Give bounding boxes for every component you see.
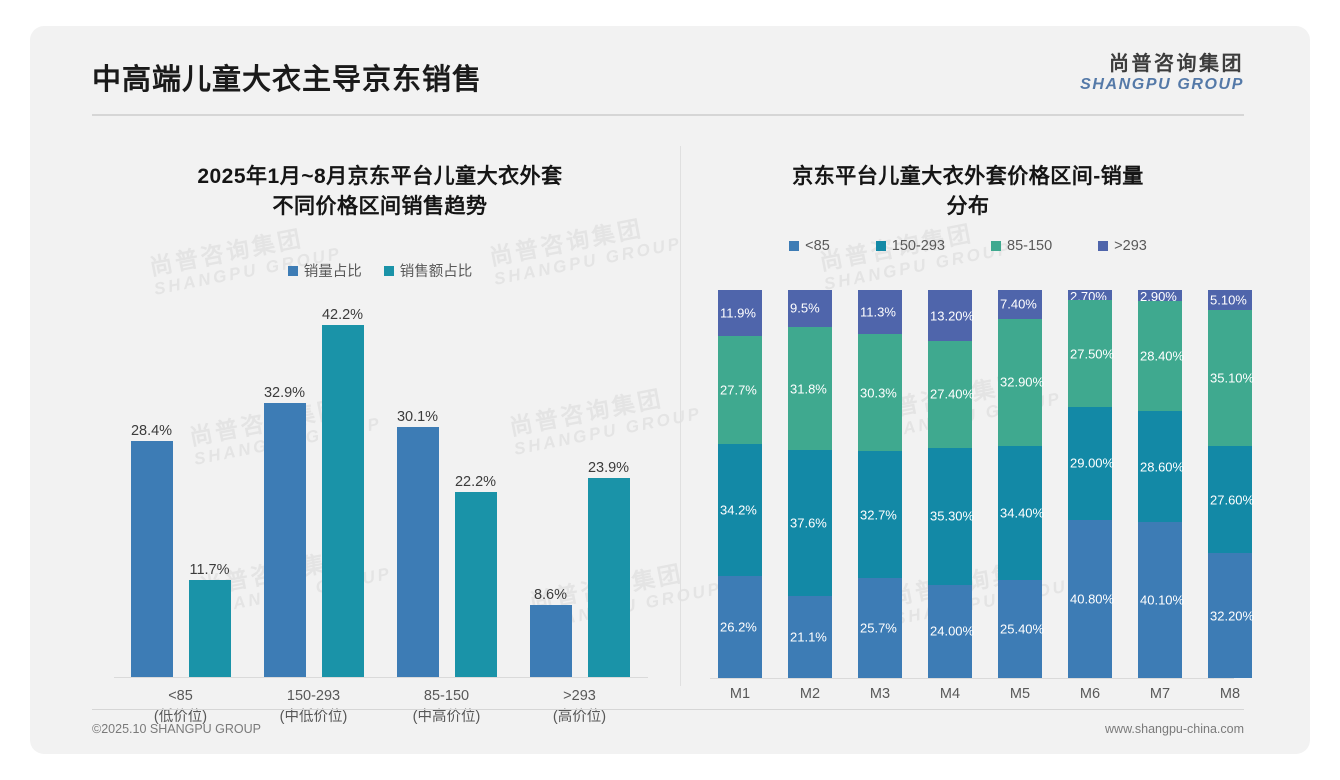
legend-label: 销售额占比 <box>400 260 473 281</box>
stack-segment-85-150[interactable]: 27.40% <box>928 341 972 447</box>
stacked-bar-column[interactable]: 7.40% 32.90% 34.40% 25.40% <box>998 290 1042 678</box>
legend-label: 85-150 <box>1007 238 1052 254</box>
slide-header: 中高端儿童大衣主导京东销售 尚普咨询集团 SHANGPU GROUP <box>30 26 1310 118</box>
bar-sales-share[interactable] <box>455 492 497 677</box>
stack-segment-85-150[interactable]: 32.90% <box>998 319 1042 447</box>
legend-item-lt85[interactable]: <85 <box>789 238 830 254</box>
bar-group: 32.9% 42.2% <box>247 302 380 677</box>
x-tick-label-m6: M6 <box>1068 686 1112 702</box>
right-chart-title: 京东平台儿童大衣外套价格区间-销量 分布 <box>692 162 1244 222</box>
legend-swatch-icon <box>384 266 394 276</box>
stack-segment-label: 32.90% <box>1000 375 1044 390</box>
stack-segment-gt293[interactable]: 11.9% <box>718 290 762 336</box>
bar-volume-share[interactable] <box>131 441 173 677</box>
legend-item-150-293[interactable]: 150-293 <box>876 238 945 254</box>
stack-segment-label: 34.40% <box>1000 505 1044 520</box>
stack-segment-label: 11.9% <box>720 306 756 321</box>
stacked-bar-column[interactable]: 2.90% 28.40% 28.60% 40.10% <box>1138 290 1182 678</box>
stack-segment-150-293[interactable]: 34.40% <box>998 446 1042 579</box>
bar-column[interactable]: 11.7% <box>189 302 231 677</box>
stack-segment-label: 26.2% <box>720 620 757 635</box>
stack-segment-150-293[interactable]: 32.7% <box>858 451 902 578</box>
stack-segment-gt293[interactable]: 2.70% <box>1068 290 1112 300</box>
legend-swatch-icon <box>1098 241 1108 251</box>
stack-segment-label: 29.00% <box>1070 456 1114 471</box>
x-tick-label-m5: M5 <box>998 686 1042 702</box>
slide-canvas: 尚普咨询集团 SHANGPU GROUP 尚普咨询集团 SHANGPU GROU… <box>30 26 1310 754</box>
legend-item-gt293[interactable]: >293 <box>1098 238 1147 254</box>
stack-segment-label: 21.1% <box>790 630 827 645</box>
x-tick-label: 85-150 (中高价位) <box>380 686 513 728</box>
left-chart-title-line2: 不同价格区间销售趋势 <box>92 192 668 222</box>
right-chart-title-line1: 京东平台儿童大衣外套价格区间-销量 <box>692 162 1244 192</box>
logo-english-text: SHANGPU GROUP <box>1080 77 1244 94</box>
bar-sales-share[interactable] <box>588 478 630 677</box>
stack-segment-label: 25.40% <box>1000 621 1044 636</box>
bar-value-label: 22.2% <box>455 474 496 490</box>
x-tick-primary: 85-150 <box>380 686 513 707</box>
stack-segment-150-293[interactable]: 29.00% <box>1068 407 1112 520</box>
stack-segment-85-150[interactable]: 30.3% <box>858 334 902 452</box>
stack-segment-85-150[interactable]: 27.50% <box>1068 300 1112 407</box>
footer-divider <box>92 709 1244 710</box>
stack-segment-lt85[interactable]: 32.20% <box>1208 553 1252 678</box>
stack-segment-label: 27.60% <box>1210 492 1254 507</box>
bar-group: 28.4% 11.7% <box>114 302 247 677</box>
right-chart-x-axis <box>710 678 1234 679</box>
bar-value-label: 8.6% <box>534 587 567 603</box>
stack-segment-label: 11.3% <box>860 304 896 319</box>
stack-segment-label: 27.50% <box>1070 346 1114 361</box>
left-chart-legend: 销量占比 销售额占比 <box>92 260 668 281</box>
logo-chinese-text: 尚普咨询集团 <box>1080 54 1244 75</box>
bar-column[interactable]: 22.2% <box>455 302 497 677</box>
x-tick-label: >293 (高价位) <box>513 686 646 728</box>
x-tick-label-m4: M4 <box>928 686 972 702</box>
x-tick-primary: 150-293 <box>247 686 380 707</box>
x-tick-label-m8: M8 <box>1208 686 1252 702</box>
stack-segment-85-150[interactable]: 28.40% <box>1138 301 1182 411</box>
bar-value-label: 11.7% <box>189 562 229 578</box>
stack-segment-label: 9.5% <box>790 301 820 316</box>
legend-item-85-150[interactable]: 85-150 <box>991 238 1052 254</box>
bar-column[interactable]: 28.4% <box>131 302 173 677</box>
stack-segment-gt293[interactable]: 5.10% <box>1208 290 1252 310</box>
stack-segment-label: 35.10% <box>1210 370 1254 385</box>
stack-segment-label: 32.20% <box>1210 608 1254 623</box>
right-chart-plot-area: 11.9% 27.7% 34.2% 26.2% 9.5% 31.8% 37.6%… <box>718 290 1228 678</box>
stack-segment-lt85[interactable]: 40.80% <box>1068 520 1112 678</box>
stack-segment-150-293[interactable]: 37.6% <box>788 450 832 596</box>
stack-segment-150-293[interactable]: 35.30% <box>928 448 972 585</box>
stack-segment-label: 32.7% <box>860 507 897 522</box>
x-tick-secondary: (高价位) <box>513 707 646 728</box>
legend-label: 150-293 <box>892 238 945 254</box>
stack-segment-lt85[interactable]: 21.1% <box>788 596 832 678</box>
stacked-bar-column[interactable]: 11.9% 27.7% 34.2% 26.2% <box>718 290 762 678</box>
stack-segment-150-293[interactable]: 28.60% <box>1138 411 1182 522</box>
stack-segment-label: 35.30% <box>930 509 974 524</box>
legend-item-volume-share[interactable]: 销量占比 <box>288 260 362 281</box>
page-title: 中高端儿童大衣主导京东销售 <box>92 56 482 98</box>
bar-column[interactable]: 32.9% <box>264 302 306 677</box>
bar-group: 30.1% 22.2% <box>380 302 513 677</box>
bar-value-label: 42.2% <box>322 307 363 323</box>
legend-label: >293 <box>1114 238 1147 254</box>
legend-swatch-icon <box>789 241 799 251</box>
stacked-bar-column[interactable]: 9.5% 31.8% 37.6% 21.1% <box>788 290 832 678</box>
right-chart-title-line2: 分布 <box>692 192 1244 222</box>
x-tick-label: 150-293 (中低价位) <box>247 686 380 728</box>
stacked-bar-column[interactable]: 2.70% 27.50% 29.00% 40.80% <box>1068 290 1112 678</box>
x-tick-secondary: (中高价位) <box>380 707 513 728</box>
legend-swatch-icon <box>876 241 886 251</box>
bar-value-label: 28.4% <box>131 423 172 439</box>
legend-item-sales-share[interactable]: 销售额占比 <box>384 260 473 281</box>
legend-swatch-icon <box>991 241 1001 251</box>
left-chart-plot-area: 28.4% 11.7% 32.9% 42.2% <box>114 302 648 677</box>
stack-segment-gt293[interactable]: 2.90% <box>1138 290 1182 301</box>
stack-segment-gt293[interactable]: 13.20% <box>928 290 972 341</box>
stack-segment-label: 27.40% <box>930 387 974 402</box>
stack-segment-gt293[interactable]: 7.40% <box>998 290 1042 319</box>
left-chart-x-axis <box>114 677 648 678</box>
left-chart-title-line1: 2025年1月~8月京东平台儿童大衣外套 <box>92 162 668 192</box>
stack-segment-150-293[interactable]: 27.60% <box>1208 446 1252 553</box>
bar-volume-share[interactable] <box>397 427 439 677</box>
bar-group: 8.6% 23.9% <box>513 302 646 677</box>
stack-segment-label: 5.10% <box>1210 292 1247 307</box>
stack-segment-lt85[interactable]: 25.7% <box>858 578 902 678</box>
bar-value-label: 23.9% <box>588 460 629 476</box>
bar-column[interactable]: 8.6% <box>530 302 572 677</box>
bar-volume-share[interactable] <box>264 403 306 677</box>
stack-segment-lt85[interactable]: 25.40% <box>998 580 1042 678</box>
x-tick-label-m1: M1 <box>718 686 762 702</box>
stacked-bar-column[interactable]: 11.3% 30.3% 32.7% 25.7% <box>858 290 902 678</box>
left-chart-panel: 2025年1月~8月京东平台儿童大衣外套 不同价格区间销售趋势 销量占比 销售额… <box>92 130 668 720</box>
bar-column[interactable]: 42.2% <box>322 302 364 677</box>
stack-segment-85-150[interactable]: 31.8% <box>788 327 832 450</box>
stack-segment-85-150[interactable]: 35.10% <box>1208 310 1252 446</box>
bar-value-label: 32.9% <box>264 385 305 401</box>
stack-segment-gt293[interactable]: 11.3% <box>858 290 902 334</box>
bar-volume-share[interactable] <box>530 605 572 677</box>
bar-column[interactable]: 30.1% <box>397 302 439 677</box>
x-tick-label-m3: M3 <box>858 686 902 702</box>
header-divider <box>92 114 1244 116</box>
stack-segment-label: 28.40% <box>1140 349 1184 364</box>
stack-segment-label: 25.7% <box>860 621 897 636</box>
legend-label: 销量占比 <box>304 260 362 281</box>
footer-copyright: ©2025.10 SHANGPU GROUP <box>92 722 261 736</box>
stack-segment-label: 27.7% <box>720 382 757 397</box>
bar-value-label: 30.1% <box>397 409 438 425</box>
stack-segment-85-150[interactable]: 27.7% <box>718 336 762 443</box>
x-tick-label-m2: M2 <box>788 686 832 702</box>
stack-segment-label: 30.3% <box>860 385 897 400</box>
stack-segment-label: 28.60% <box>1140 459 1184 474</box>
stack-segment-label: 24.00% <box>930 624 974 639</box>
panel-divider <box>680 146 681 686</box>
right-chart-legend: <85 150-293 85-150 >293 <box>692 238 1244 254</box>
stack-segment-label: 37.6% <box>790 516 827 531</box>
brand-logo: 尚普咨询集团 SHANGPU GROUP <box>1080 54 1244 94</box>
x-tick-primary: <85 <box>114 686 247 707</box>
stack-segment-label: 13.20% <box>930 308 974 323</box>
stack-segment-label: 34.2% <box>720 502 757 517</box>
bar-column[interactable]: 23.9% <box>588 302 630 677</box>
stack-segment-150-293[interactable]: 34.2% <box>718 444 762 577</box>
stack-segment-gt293[interactable]: 9.5% <box>788 290 832 327</box>
stacked-bar-column[interactable]: 13.20% 27.40% 35.30% 24.00% <box>928 290 972 678</box>
x-tick-secondary: (中低价位) <box>247 707 380 728</box>
bar-sales-share[interactable] <box>189 580 231 677</box>
left-chart-title: 2025年1月~8月京东平台儿童大衣外套 不同价格区间销售趋势 <box>92 162 668 222</box>
stack-segment-label: 7.40% <box>1000 297 1037 312</box>
stack-segment-label: 31.8% <box>790 381 827 396</box>
stack-segment-lt85[interactable]: 24.00% <box>928 585 972 678</box>
stacked-bar-column[interactable]: 5.10% 35.10% 27.60% 32.20% <box>1208 290 1252 678</box>
stack-segment-lt85[interactable]: 40.10% <box>1138 522 1182 678</box>
stack-segment-lt85[interactable]: 26.2% <box>718 576 762 678</box>
stack-segment-label: 40.10% <box>1140 593 1184 608</box>
footer-website[interactable]: www.shangpu-china.com <box>1105 722 1244 736</box>
legend-swatch-icon <box>288 266 298 276</box>
bar-sales-share[interactable] <box>322 325 364 677</box>
x-tick-primary: >293 <box>513 686 646 707</box>
legend-label: <85 <box>805 238 830 254</box>
x-tick-label-m7: M7 <box>1138 686 1182 702</box>
stack-segment-label: 40.80% <box>1070 591 1114 606</box>
right-chart-panel: 京东平台儿童大衣外套价格区间-销量 分布 <85 150-293 85-150 … <box>692 130 1244 720</box>
